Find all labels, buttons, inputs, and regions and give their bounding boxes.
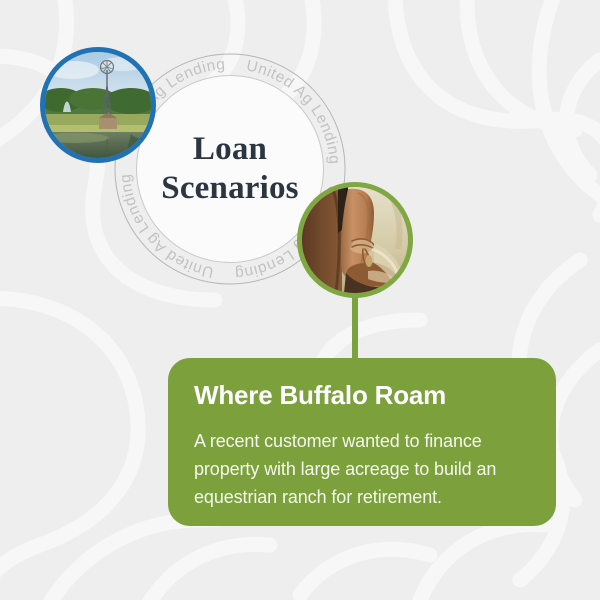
windmill-pond-photo — [40, 47, 156, 163]
social-post-canvas: United Ag Lending United Ag Lending Unit… — [0, 0, 600, 600]
story-card-title: Where Buffalo Roam — [194, 380, 530, 411]
badge-title-line-1: Loan — [193, 130, 267, 169]
story-card: Where Buffalo Roam A recent customer wan… — [168, 358, 556, 526]
badge-title: Loan Scenarios — [136, 75, 324, 263]
badge-title-line-2: Scenarios — [161, 169, 298, 208]
story-card-body: A recent customer wanted to finance prop… — [194, 427, 529, 511]
connector-line — [352, 292, 358, 364]
cowboy-boot-photo — [297, 182, 413, 298]
